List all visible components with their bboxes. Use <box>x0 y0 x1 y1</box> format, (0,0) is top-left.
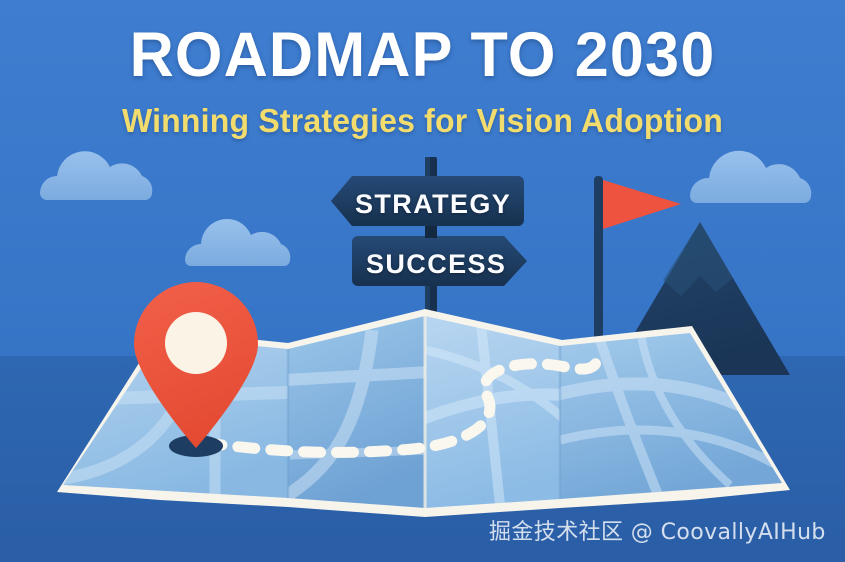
sign-strategy-plate <box>331 176 524 226</box>
sign-success-plate <box>352 236 527 286</box>
roadmap-poster: ROADMAP TO 2030 Winning Strategies for V… <box>0 0 845 562</box>
pin-inner-dot <box>165 312 227 374</box>
poster-illustration <box>0 0 845 562</box>
